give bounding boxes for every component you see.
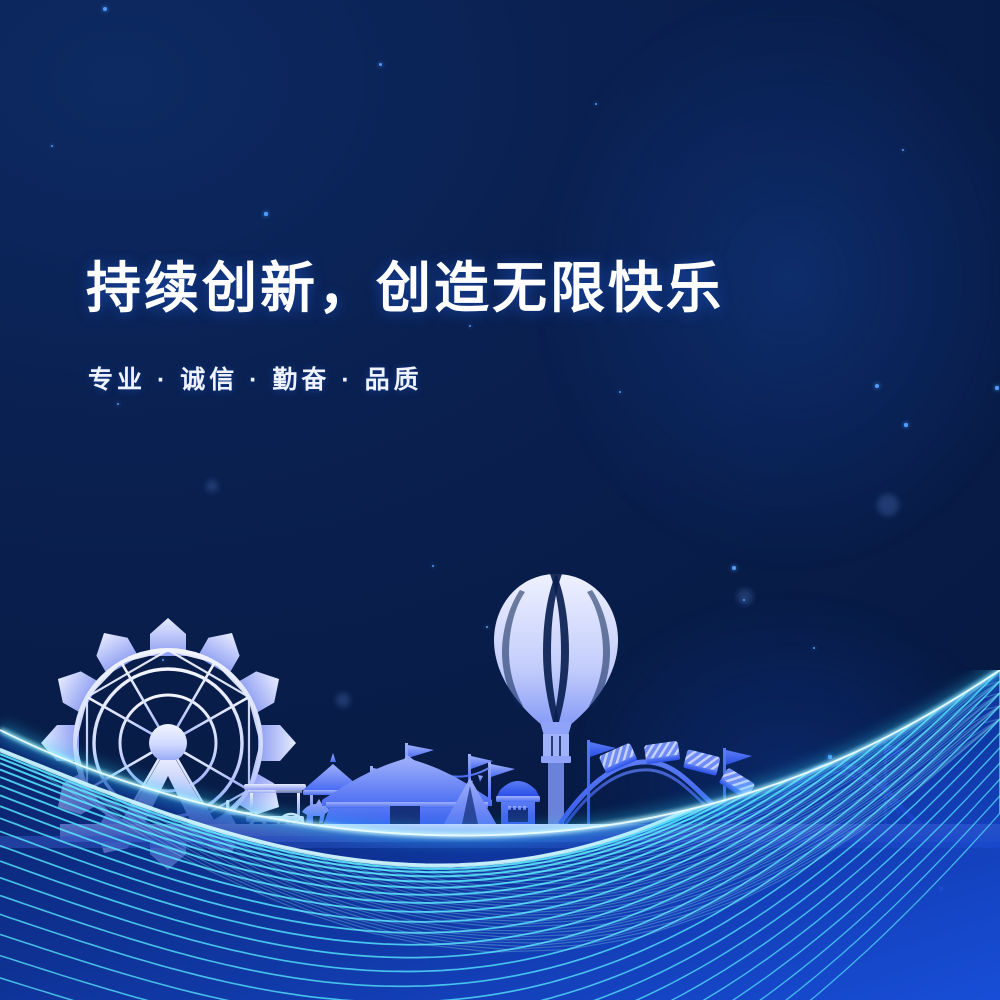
banner-canvas: 持续创新，创造无限快乐 专业 · 诚信 · 勤奋 · 品质: [0, 0, 1000, 1000]
neon-mesh-wave: [0, 670, 1000, 1000]
